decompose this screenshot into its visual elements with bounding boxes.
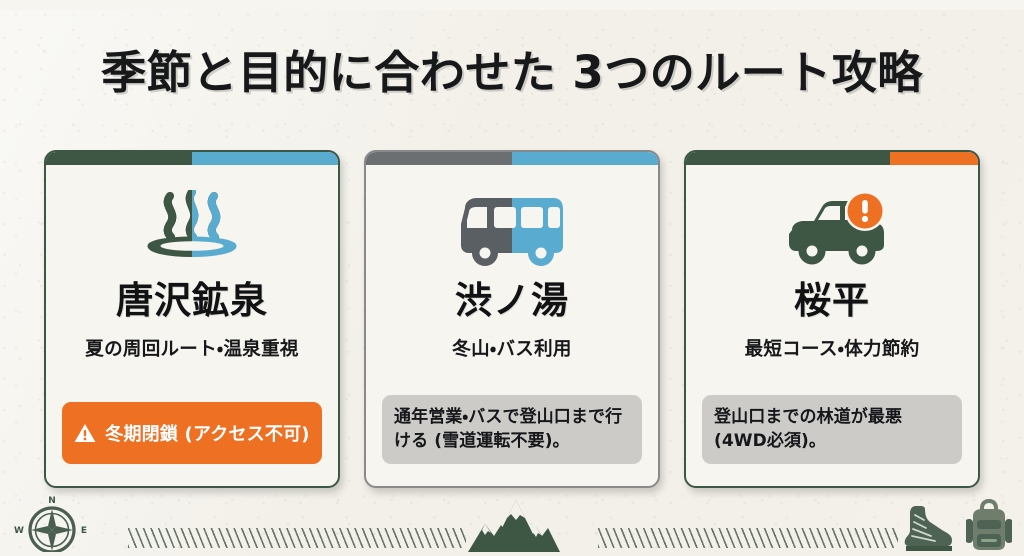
compass-rose-icon: N W E	[12, 492, 98, 556]
card-note-text: 通年営業・バスで登山口まで行ける (雪道運転不要)。	[394, 405, 630, 454]
route-card-sakuradaira[interactable]: 桜平 最短コース・体力節約 登山口までの林道が最悪 (4WD必須)。	[684, 150, 980, 488]
card-note: 通年営業・バスで登山口まで行ける (雪道運転不要)。	[382, 395, 642, 464]
card-subtitle: 最短コース・体力節約	[745, 335, 920, 361]
status-badge: 冬期閉鎖 (アクセス不可)	[62, 402, 322, 464]
slide-top-strip	[0, 0, 1024, 10]
card-subtitle: 夏の周回ルート・温泉重視	[85, 335, 298, 361]
hatch-line-right	[598, 528, 898, 548]
hatch-line-left	[128, 528, 466, 548]
page-title: 季節と目的に合わせた 3つのルート攻略	[0, 36, 1024, 101]
card-topbar	[366, 152, 658, 165]
card-subtitle: 冬山・バス利用	[452, 335, 571, 361]
hot-spring-icon	[140, 190, 244, 268]
card-title: 桜平	[794, 282, 870, 319]
compass-west-label: W	[14, 526, 24, 536]
compass-north-label: N	[48, 496, 56, 506]
mountain-icon	[468, 494, 560, 556]
backpack-icon	[964, 498, 1014, 556]
warning-triangle-icon	[74, 423, 96, 443]
card-topbar	[686, 152, 978, 165]
route-card-list: 唐沢鉱泉 夏の周回ルート・温泉重視 冬期閉鎖 (アクセス不可)	[44, 150, 980, 490]
route-card-karasawa-kosen[interactable]: 唐沢鉱泉 夏の周回ルート・温泉重視 冬期閉鎖 (アクセス不可)	[44, 150, 340, 488]
card-title: 唐沢鉱泉	[116, 282, 268, 319]
card-note: 登山口までの林道が最悪 (4WD必須)。	[702, 395, 962, 464]
gear-icons	[902, 498, 1014, 556]
status-badge-label: 冬期閉鎖 (アクセス不可)	[105, 420, 309, 446]
card-note-text: 登山口までの林道が最悪 (4WD必須)。	[714, 405, 950, 454]
hiking-boot-icon	[902, 502, 954, 556]
route-card-shibunoyu[interactable]: 渋ノ湯 冬山・バス利用 通年営業・バスで登山口まで行ける (雪道運転不要)。	[364, 150, 660, 488]
footer-decoration: N W E	[0, 494, 1024, 556]
card-title: 渋ノ湯	[455, 282, 569, 319]
car-warning-icon	[774, 190, 890, 268]
bus-icon	[457, 190, 567, 268]
compass-east-label: E	[81, 526, 87, 536]
card-topbar	[46, 152, 338, 165]
